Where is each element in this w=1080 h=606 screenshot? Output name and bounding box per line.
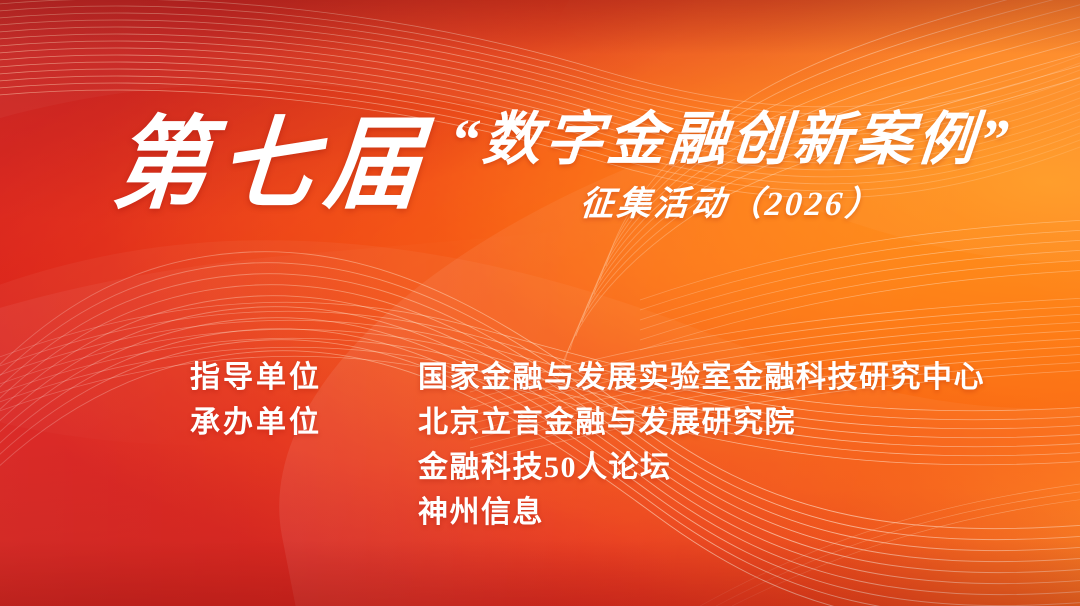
- poster-content: 第七届 “数字金融创新案例” 征集活动（2026） 指导单位 承办单位 国家金融…: [0, 0, 1080, 606]
- credits-label-guidance: 指导单位: [190, 355, 418, 400]
- credits-value-organizer-1: 北京立言金融与发展研究院: [418, 400, 985, 445]
- credits-section: 指导单位 承办单位 国家金融与发展实验室金融科技研究中心 北京立言金融与发展研究…: [190, 355, 985, 535]
- credits-value-organizer-3: 神州信息: [418, 490, 985, 535]
- page-title: “数字金融创新案例”: [447, 108, 1015, 172]
- credits-label-spacer-1: [190, 445, 418, 490]
- credits-label-column: 指导单位 承办单位: [190, 355, 418, 535]
- poster-canvas: 第七届 “数字金融创新案例” 征集活动（2026） 指导单位 承办单位 国家金融…: [0, 0, 1080, 606]
- credits-label-organizer: 承办单位: [190, 400, 418, 445]
- credits-label-spacer-2: [190, 490, 418, 535]
- edition-heading: 第七届: [109, 112, 437, 218]
- credits-value-column: 国家金融与发展实验室金融科技研究中心 北京立言金融与发展研究院 金融科技50人论…: [418, 355, 985, 535]
- credits-value-organizer-2: 金融科技50人论坛: [418, 445, 985, 490]
- headline-row: 第七届 “数字金融创新案例” 征集活动（2026）: [0, 104, 1080, 223]
- page-subtitle: 征集活动（2026）: [578, 186, 883, 223]
- credits-value-guidance-1: 国家金融与发展实验室金融科技研究中心: [418, 355, 985, 400]
- title-block: “数字金融创新案例” 征集活动（2026）: [450, 108, 1012, 223]
